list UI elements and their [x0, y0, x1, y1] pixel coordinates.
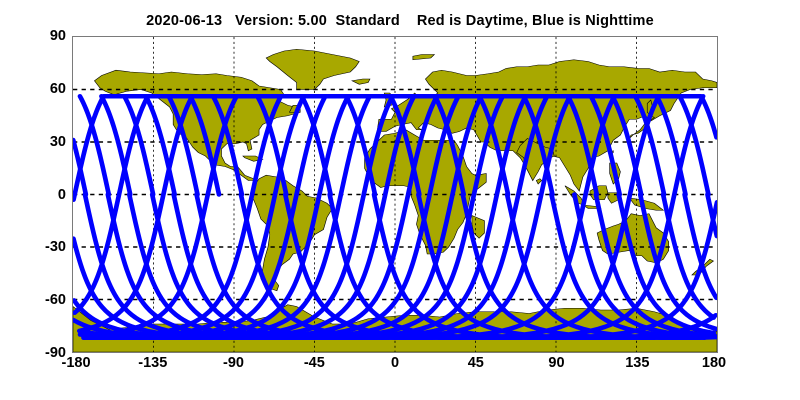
y-tick-30: 30 — [4, 134, 66, 150]
y-tick-0: 0 — [4, 187, 66, 203]
y-tick-90: 90 — [4, 28, 66, 44]
x-tick-m135: -135 — [138, 355, 167, 371]
landmass-srilanka — [536, 179, 541, 184]
x-tick-180: 180 — [702, 355, 726, 371]
landmass-newguinea — [629, 198, 663, 210]
landmass-borneo — [590, 186, 608, 200]
y-tick-m90: -90 — [4, 345, 66, 361]
x-tick-135: 135 — [625, 355, 649, 371]
y-tick-m30: -30 — [4, 239, 66, 255]
landmass-svalbard — [413, 55, 434, 60]
x-tick-m90: -90 — [223, 355, 244, 371]
x-tick-m45: -45 — [304, 355, 325, 371]
landmass-greenland — [266, 49, 359, 89]
y-tick-m60: -60 — [4, 292, 66, 308]
figure-title: 2020-06-13 Version: 5.00 Standard Red is… — [0, 13, 800, 29]
y-tick-60: 60 — [4, 81, 66, 97]
x-tick-0: 0 — [391, 355, 399, 371]
ground-track-map-figure: 2020-06-13 Version: 5.00 Standard Red is… — [0, 0, 800, 400]
landmass-iceland — [352, 79, 370, 84]
x-tick-m180: -180 — [61, 355, 90, 371]
x-tick-90: 90 — [548, 355, 564, 371]
x-tick-45: 45 — [468, 355, 484, 371]
plot-area — [72, 36, 718, 353]
world-map-svg — [73, 37, 717, 352]
